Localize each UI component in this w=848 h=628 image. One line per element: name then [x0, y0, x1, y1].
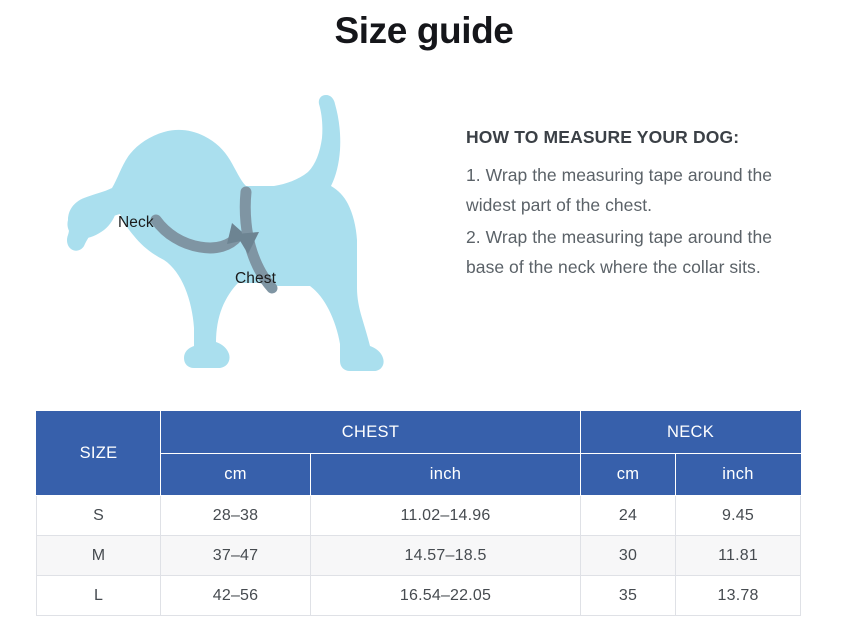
dog-body-shape [67, 95, 384, 371]
dog-silhouette-icon [60, 92, 450, 377]
how-to-measure-step-1: 1. Wrap the measuring tape around the wi… [466, 160, 796, 220]
size-table-head: SIZE CHEST NECK cm inch cm inch [37, 411, 801, 496]
cell-chest-cm: 28–38 [161, 496, 311, 536]
page-title: Size guide [0, 8, 848, 54]
size-table-container: SIZE CHEST NECK cm inch cm inch S 28–38 … [36, 410, 800, 616]
cell-neck-cm: 24 [581, 496, 676, 536]
cell-chest-cm: 37–47 [161, 536, 311, 576]
cell-neck-cm: 30 [581, 536, 676, 576]
how-to-measure-step-2: 2. Wrap the measuring tape around the ba… [466, 222, 796, 282]
cell-chest-cm: 42–56 [161, 576, 311, 616]
column-header-chest-cm: cm [161, 454, 311, 496]
cell-chest-inch: 11.02–14.96 [311, 496, 581, 536]
cell-neck-inch: 9.45 [676, 496, 801, 536]
neck-label: Neck [118, 214, 154, 232]
cell-size: M [37, 536, 161, 576]
size-table-group-header-row: SIZE CHEST NECK [37, 411, 801, 454]
column-header-chest-inch: inch [311, 454, 581, 496]
cell-neck-inch: 13.78 [676, 576, 801, 616]
cell-size: L [37, 576, 161, 616]
size-table: SIZE CHEST NECK cm inch cm inch S 28–38 … [36, 410, 801, 616]
cell-chest-inch: 16.54–22.05 [311, 576, 581, 616]
column-group-header-chest: CHEST [161, 411, 581, 454]
table-row: M 37–47 14.57–18.5 30 11.81 [37, 536, 801, 576]
chest-label: Chest [235, 270, 276, 288]
column-group-header-neck: NECK [581, 411, 801, 454]
how-to-measure-heading: HOW TO MEASURE YOUR DOG: [466, 126, 796, 149]
cell-chest-inch: 14.57–18.5 [311, 536, 581, 576]
cell-neck-inch: 11.81 [676, 536, 801, 576]
table-row: L 42–56 16.54–22.05 35 13.78 [37, 576, 801, 616]
column-header-neck-cm: cm [581, 454, 676, 496]
dog-measure-illustration: Neck Chest [60, 92, 450, 377]
table-row: S 28–38 11.02–14.96 24 9.45 [37, 496, 801, 536]
column-header-neck-inch: inch [676, 454, 801, 496]
how-to-measure-section: HOW TO MEASURE YOUR DOG: 1. Wrap the mea… [466, 126, 796, 282]
column-header-size: SIZE [37, 411, 161, 496]
size-table-body: S 28–38 11.02–14.96 24 9.45 M 37–47 14.5… [37, 496, 801, 616]
cell-size: S [37, 496, 161, 536]
cell-neck-cm: 35 [581, 576, 676, 616]
